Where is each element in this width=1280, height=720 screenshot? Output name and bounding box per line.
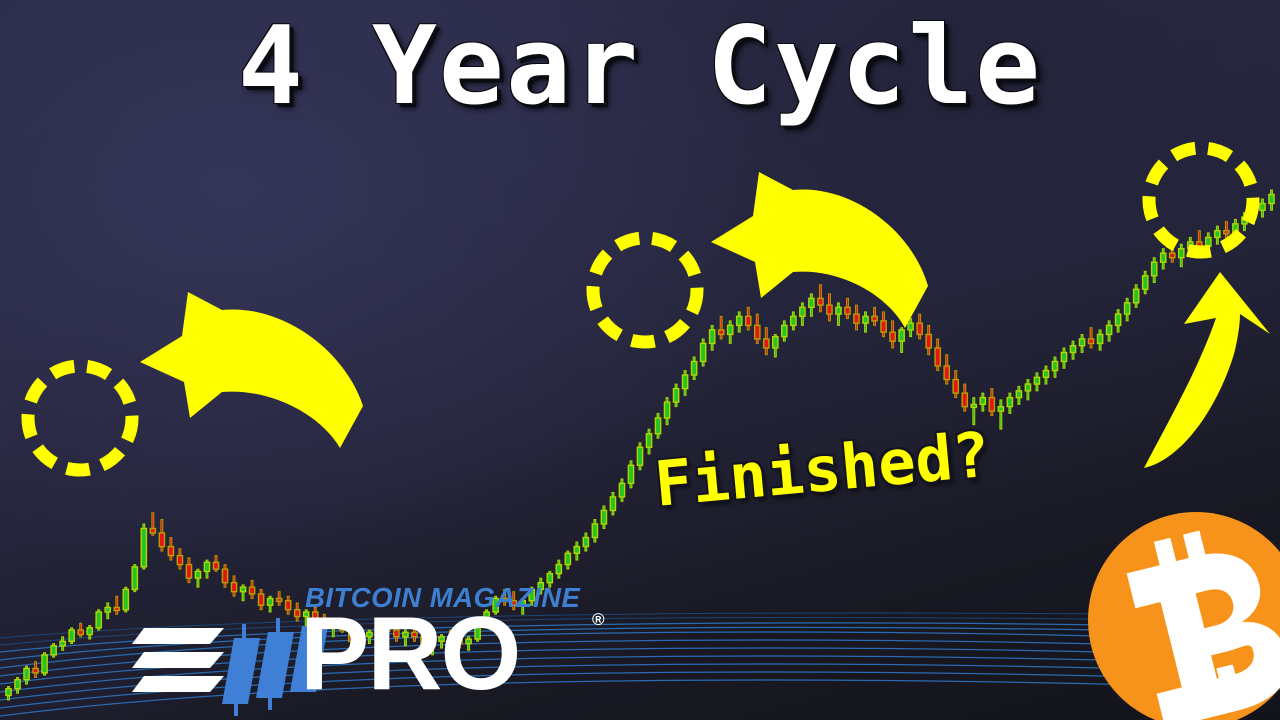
thumbnail-canvas: 4 Year Cycle Finished? xyxy=(0,0,1280,720)
logo-registered-mark: ® xyxy=(592,610,605,630)
bitcoin-magazine-pro-logo: BITCOIN MAGAZINE PRO ® xyxy=(140,580,620,700)
logomark-icon xyxy=(138,596,308,716)
logo-product: PRO xyxy=(300,602,519,706)
